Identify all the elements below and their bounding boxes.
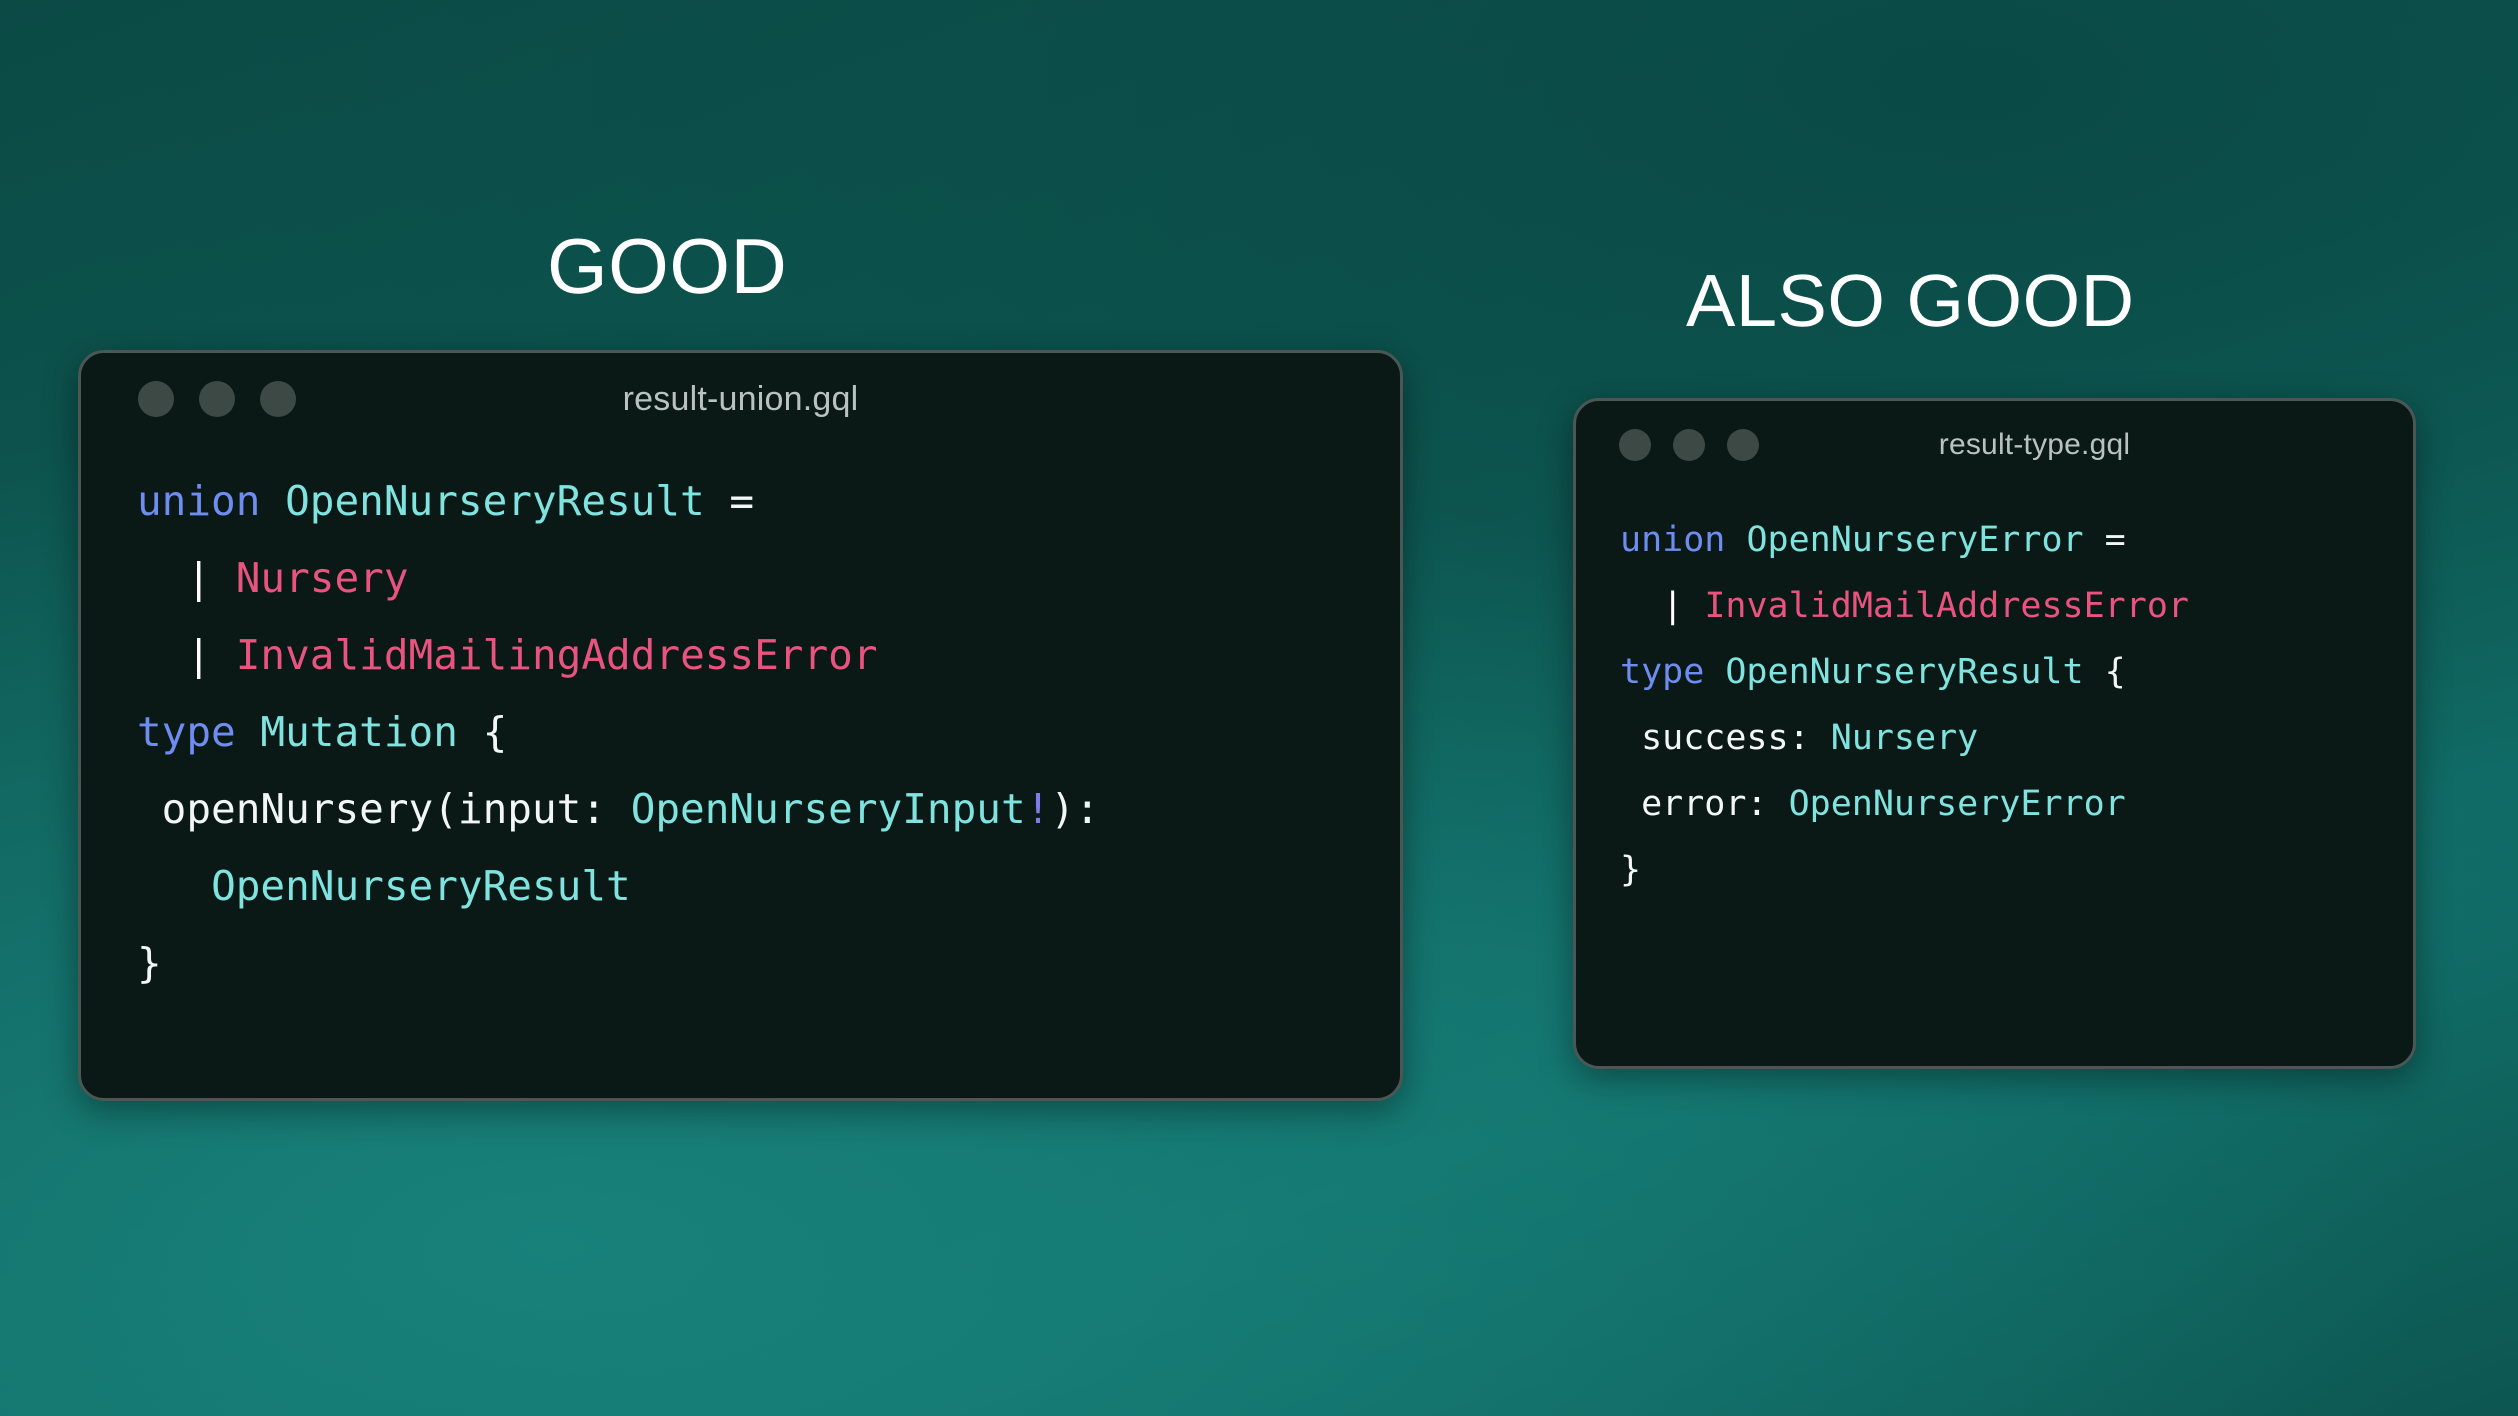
code-card-titlebar: result-union.gql [81,353,1400,445]
code-token-type: OpenNurseryResult [211,862,631,910]
code-token-type: OpenNurseryResult [1725,652,2083,692]
code-line: | InvalidMailingAddressError [137,617,1400,694]
code-token-punctuation: ): [1050,785,1099,833]
panel-heading-good: GOOD [547,227,787,305]
code-token-punctuation: } [137,939,162,987]
code-token-type: OpenNurseryError [1789,784,2126,824]
code-token-error-type: Nursery [236,554,409,602]
minimize-dot-icon[interactable] [199,381,235,417]
window-controls [1619,429,1759,461]
code-token-type: OpenNurseryError [1746,520,2083,560]
code-token-keyword: type [137,708,260,756]
code-line: } [1620,837,2413,903]
maximize-dot-icon[interactable] [260,381,296,417]
code-token-keyword: union [1620,520,1746,560]
code-token-pipe: | [1662,586,1683,626]
code-line: | Nursery [137,540,1400,617]
code-line: union OpenNurseryResult = [137,463,1400,540]
slide-canvas: GOOD result-union.gql union OpenNurseryR… [0,0,2518,1416]
close-dot-icon[interactable] [138,381,174,417]
code-token-field: error: [1620,784,1789,824]
code-card-filename: result-type.gql [1656,428,2413,462]
code-token-error-type: InvalidMailAddressError [1704,586,2189,626]
code-token-keyword: type [1620,652,1725,692]
code-token-space [137,554,186,602]
code-token-type: Mutation [260,708,457,756]
code-block: union OpenNurseryResult = | Nursery | In… [81,445,1400,1002]
code-line: union OpenNurseryError = [1620,507,2413,573]
code-token-pipe: | [186,631,211,679]
code-line: type Mutation { [137,694,1400,771]
minimize-dot-icon[interactable] [1673,429,1705,461]
code-token-space [211,631,236,679]
code-card-result-type: result-type.gql union OpenNurseryError =… [1573,398,2416,1069]
code-line: OpenNurseryResult [137,848,1400,925]
code-token-space [1620,586,1662,626]
code-token-space [211,554,236,602]
code-block: union OpenNurseryError = | InvalidMailAd… [1576,489,2413,903]
code-token-space [137,862,211,910]
code-token-punctuation: { [2084,652,2126,692]
code-token-field: success: [1620,718,1831,758]
code-token-bang: ! [1026,785,1051,833]
window-controls [138,381,296,417]
code-token-punctuation: = [2084,520,2126,560]
code-token-type: Nursery [1831,718,1979,758]
code-line: error: OpenNurseryError [1620,771,2413,837]
code-token-punctuation: = [705,477,754,525]
code-token-error-type: InvalidMailingAddressError [236,631,878,679]
code-card-result-union: result-union.gql union OpenNurseryResult… [78,350,1403,1101]
code-token-punctuation: { [458,708,507,756]
code-line: | InvalidMailAddressError [1620,573,2413,639]
code-token-type: OpenNurseryResult [285,477,705,525]
code-line: openNursery(input: OpenNurseryInput!): [137,771,1400,848]
code-line: type OpenNurseryResult { [1620,639,2413,705]
code-token-keyword: union [137,477,285,525]
code-token-pipe: | [186,554,211,602]
code-card-titlebar: result-type.gql [1576,401,2413,489]
panel-heading-also-good: ALSO GOOD [1686,264,2135,338]
code-token-field: openNursery(input: [137,785,631,833]
code-token-space [137,631,186,679]
maximize-dot-icon[interactable] [1727,429,1759,461]
code-token-space [1683,586,1704,626]
code-line: } [137,925,1400,1002]
code-line: success: Nursery [1620,705,2413,771]
code-token-punctuation: } [1620,850,1641,890]
close-dot-icon[interactable] [1619,429,1651,461]
code-token-type: OpenNurseryInput [631,785,1026,833]
